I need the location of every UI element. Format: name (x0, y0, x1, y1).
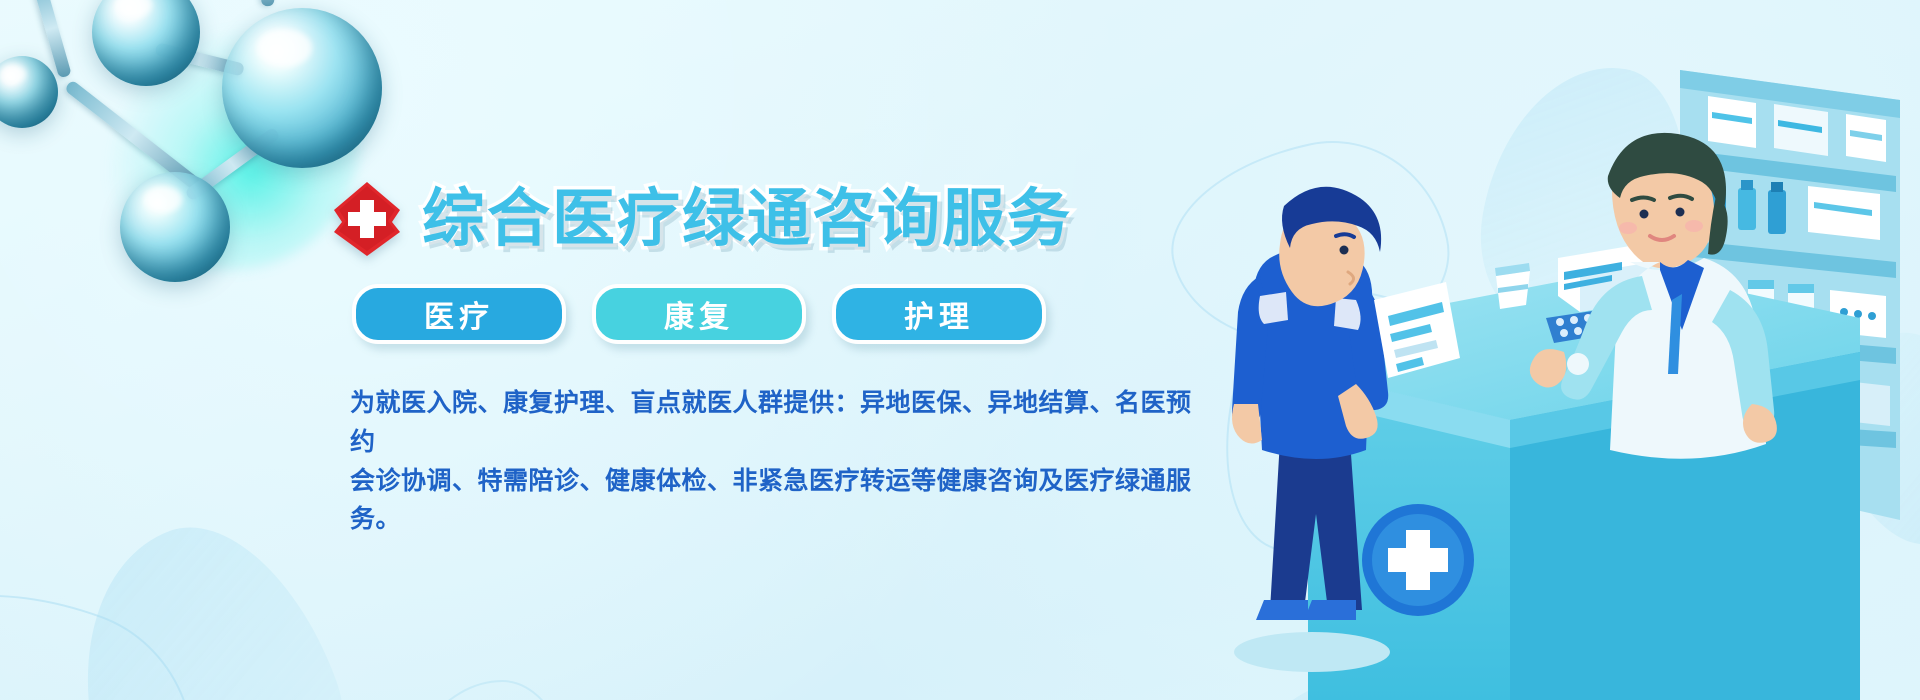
medical-cross-badge-icon (330, 180, 404, 258)
page-title: 综合医疗绿通咨询服务 (422, 187, 1072, 251)
service-tag-rehabilitation[interactable]: 康复 (592, 284, 806, 344)
service-tag-nursing[interactable]: 护理 (832, 284, 1046, 344)
service-description: 为就医入院、康复护理、盲点就医人群提供：异地医保、异地结算、名医预约 会诊协调、… (350, 384, 1210, 539)
service-tag-list: 医疗 康复 护理 (352, 284, 1210, 344)
banner-content: 综合医疗绿通咨询服务 医疗 康复 护理 为就医入院、康复护理、盲点就医人群提供：… (330, 180, 1210, 539)
medical-service-banner: 综合医疗绿通咨询服务 医疗 康复 护理 为就医入院、康复护理、盲点就医人群提供：… (0, 0, 1920, 700)
molecule-atom (0, 56, 58, 128)
description-line-2: 会诊协调、特需陪诊、健康体检、非紧急医疗转运等健康咨询及医疗绿通服务。 (350, 462, 1210, 540)
service-tag-label: 医疗 (424, 292, 494, 336)
molecule-atom (120, 172, 230, 282)
description-line-1: 为就医入院、康复护理、盲点就医人群提供：异地医保、异地结算、名医预约 (350, 384, 1210, 462)
pill-cup (1495, 263, 1530, 309)
title-row: 综合医疗绿通咨询服务 (330, 180, 1210, 258)
service-tag-label: 康复 (664, 292, 734, 336)
molecule-bond (254, 0, 275, 7)
pharmacy-counter-scene (1160, 0, 1920, 700)
service-tag-medical[interactable]: 医疗 (352, 284, 566, 344)
cross-emblem (1362, 504, 1474, 616)
molecule-atom (222, 8, 382, 168)
service-tag-label: 护理 (904, 292, 974, 336)
